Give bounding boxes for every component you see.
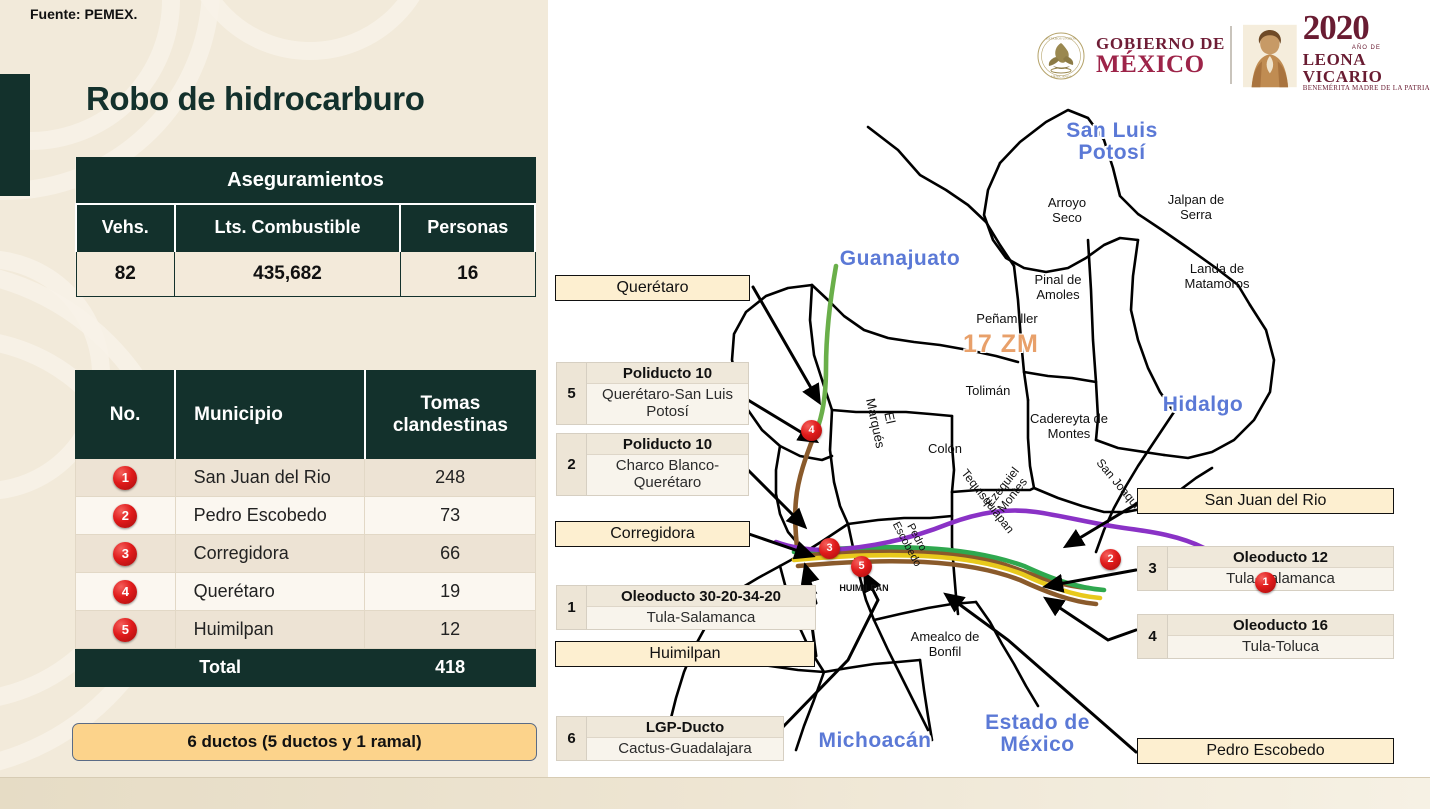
map-pin-1[interactable]: 1 <box>1255 572 1276 593</box>
callout-municipio-san-juan-del-rio[interactable]: San Juan del Rio <box>1137 488 1394 514</box>
rank-bullet-icon: 5 <box>113 618 137 642</box>
row-tomas: 19 <box>365 573 536 611</box>
rank-bullet-icon: 3 <box>113 542 137 566</box>
table-row: 4 Querétaro 19 <box>76 573 536 611</box>
tomas-clandestinas-table: No. Municipio Tomas clandestinas 1 San J… <box>75 370 536 687</box>
value-lts: 435,682 <box>175 252 401 297</box>
ducto-route: Tula-Salamanca <box>1168 568 1393 590</box>
map-pin-4[interactable]: 4 <box>801 420 822 441</box>
row-number-cell: 3 <box>76 535 176 573</box>
muni-label-amealco-de-bonfil: Amealco de Bonfil <box>905 630 985 659</box>
col-header-lts: Lts. Combustible <box>175 204 401 252</box>
value-personas: 16 <box>400 252 535 297</box>
muni-label-pinal-de-amoles: Pinal de Amoles <box>1022 273 1094 302</box>
ducto-name: Poliducto 10 <box>587 434 748 455</box>
muni-label-landa-de-matamoros: Landa de Matamoros <box>1172 262 1262 291</box>
callout-ducto-5[interactable]: 5 Poliducto 10 Querétaro-San Luis Potosí <box>556 362 749 425</box>
state-label-hidalgo: Hidalgo <box>1148 394 1258 416</box>
muni-label-arroyo-seco: Arroyo Seco <box>1032 196 1102 225</box>
row-number-cell: 2 <box>76 497 176 535</box>
ducto-name: Oleoducto 16 <box>1168 615 1393 636</box>
col-header-tomas-line1: Tomas <box>366 393 535 415</box>
state-label-san-luis-potosi: San Luis Potosí <box>1047 120 1177 164</box>
callout-municipio-queretaro[interactable]: Querétaro <box>555 275 750 301</box>
row-municipio: Pedro Escobedo <box>175 497 365 535</box>
callout-ducto-1[interactable]: 1 Oleoducto 30-20-34-20 Tula-Salamanca <box>556 585 816 630</box>
row-number-cell: 1 <box>76 459 176 497</box>
ducto-number: 2 <box>557 434 587 495</box>
state-label-michoacan: Michoacán <box>800 730 950 752</box>
row-tomas: 66 <box>365 535 536 573</box>
ducto-name: Oleoducto 12 <box>1168 547 1393 568</box>
col-header-vehs: Vehs. <box>76 204 175 252</box>
row-municipio: Huimilpan <box>175 611 365 649</box>
state-label-estado-de-mexico: Estado de México <box>965 712 1110 756</box>
ducto-name: Oleoducto 30-20-34-20 <box>587 586 815 607</box>
rank-bullet-icon: 2 <box>113 504 137 528</box>
muni-label-cadereyta-de-montes: Cadereyta de Montes <box>1026 412 1112 441</box>
callout-ducto-6[interactable]: 6 LGP-Ducto Cactus-Guadalajara <box>556 716 784 761</box>
ducto-body: LGP-Ducto Cactus-Guadalajara <box>587 717 783 760</box>
callout-municipio-corregidora[interactable]: Corregidora <box>555 521 750 547</box>
row-tomas: 73 <box>365 497 536 535</box>
zm-label: 17 ZM <box>963 330 1039 359</box>
ducto-number: 5 <box>557 363 587 424</box>
ducto-route: Tula-Toluca <box>1168 636 1393 658</box>
muni-label-huimilpan: HUIMILPAN <box>833 583 895 593</box>
row-number-cell: 5 <box>76 611 176 649</box>
table-total-row: Total 418 <box>76 649 536 687</box>
map-pin-2[interactable]: 2 <box>1100 549 1121 570</box>
col-header-personas: Personas <box>400 204 535 252</box>
ducto-number: 1 <box>557 586 587 629</box>
table-row: 5 Huimilpan 12 <box>76 611 536 649</box>
ducto-body: Oleoducto 30-20-34-20 Tula-Salamanca <box>587 586 815 629</box>
row-municipio: Corregidora <box>175 535 365 573</box>
col-header-no: No. <box>76 371 176 459</box>
ducto-route: Cactus-Guadalajara <box>587 738 783 760</box>
callout-municipio-pedro-escobedo[interactable]: Pedro Escobedo <box>1137 738 1394 764</box>
ducto-body: Poliducto 10 Charco Blanco-Querétaro <box>587 434 748 495</box>
ducto-body: Oleoducto 16 Tula-Toluca <box>1168 615 1393 658</box>
ducto-number: 4 <box>1138 615 1168 658</box>
map-pin-3[interactable]: 3 <box>819 538 840 559</box>
rank-bullet-icon: 4 <box>113 580 137 604</box>
callout-ducto-4[interactable]: 4 Oleoducto 16 Tula-Toluca <box>1137 614 1394 659</box>
col-header-tomas-line2: clandestinas <box>366 415 535 437</box>
aseguramientos-table: Aseguramientos Vehs. Lts. Combustible Pe… <box>75 157 536 297</box>
ducto-name: Poliducto 10 <box>587 363 748 384</box>
ducts-summary-button[interactable]: 6 ductos (5 ductos y 1 ramal) <box>72 723 537 761</box>
row-tomas: 248 <box>365 459 536 497</box>
ducto-number: 6 <box>557 717 587 760</box>
ducto-number: 3 <box>1138 547 1168 590</box>
muni-label-toliman: Tolimán <box>957 384 1019 399</box>
ducto-body: Oleoducto 12 Tula-Salamanca <box>1168 547 1393 590</box>
page-title: Robo de hidrocarburo <box>86 80 526 118</box>
ducto-route: Querétaro-San Luis Potosí <box>587 384 748 424</box>
state-label-guanajuato: Guanajuato <box>815 248 985 270</box>
ducto-body: Poliducto 10 Querétaro-San Luis Potosí <box>587 363 748 424</box>
row-municipio: Querétaro <box>175 573 365 611</box>
table-row: 2 Pedro Escobedo 73 <box>76 497 536 535</box>
rank-bullet-icon: 1 <box>113 466 137 490</box>
aseguramientos-title: Aseguramientos <box>76 158 535 204</box>
accent-tab <box>0 74 30 196</box>
callout-municipio-huimilpan[interactable]: Huimilpan <box>555 641 815 667</box>
tomas-table-body: 1 San Juan del Rio 248 2 Pedro Escobedo … <box>76 459 536 687</box>
ducto-route: Charco Blanco-Querétaro <box>587 455 748 495</box>
background-swirl <box>180 0 440 60</box>
footer-source-text: Fuente: PEMEX. <box>30 6 137 22</box>
col-header-tomas: Tomas clandestinas <box>365 371 536 459</box>
map-pin-5[interactable]: 5 <box>851 556 872 577</box>
row-municipio: San Juan del Rio <box>175 459 365 497</box>
table-row: 1 San Juan del Rio 248 <box>76 459 536 497</box>
table-row: 3 Corregidora 66 <box>76 535 536 573</box>
ducto-name: LGP-Ducto <box>587 717 783 738</box>
row-number-cell: 4 <box>76 573 176 611</box>
ducto-route: Tula-Salamanca <box>587 607 815 629</box>
total-value: 418 <box>365 649 536 687</box>
col-header-municipio: Municipio <box>175 371 365 459</box>
muni-label-colon: Colón <box>918 442 972 457</box>
row-tomas: 12 <box>365 611 536 649</box>
callout-ducto-2[interactable]: 2 Poliducto 10 Charco Blanco-Querétaro <box>556 433 749 496</box>
footer-bar <box>0 777 1430 809</box>
muni-label-jalpan-de-serra: Jalpan de Serra <box>1157 193 1235 222</box>
muni-label-penamiller: Peñamiller <box>963 312 1051 327</box>
total-label: Total <box>76 649 365 687</box>
value-vehs: 82 <box>76 252 175 297</box>
